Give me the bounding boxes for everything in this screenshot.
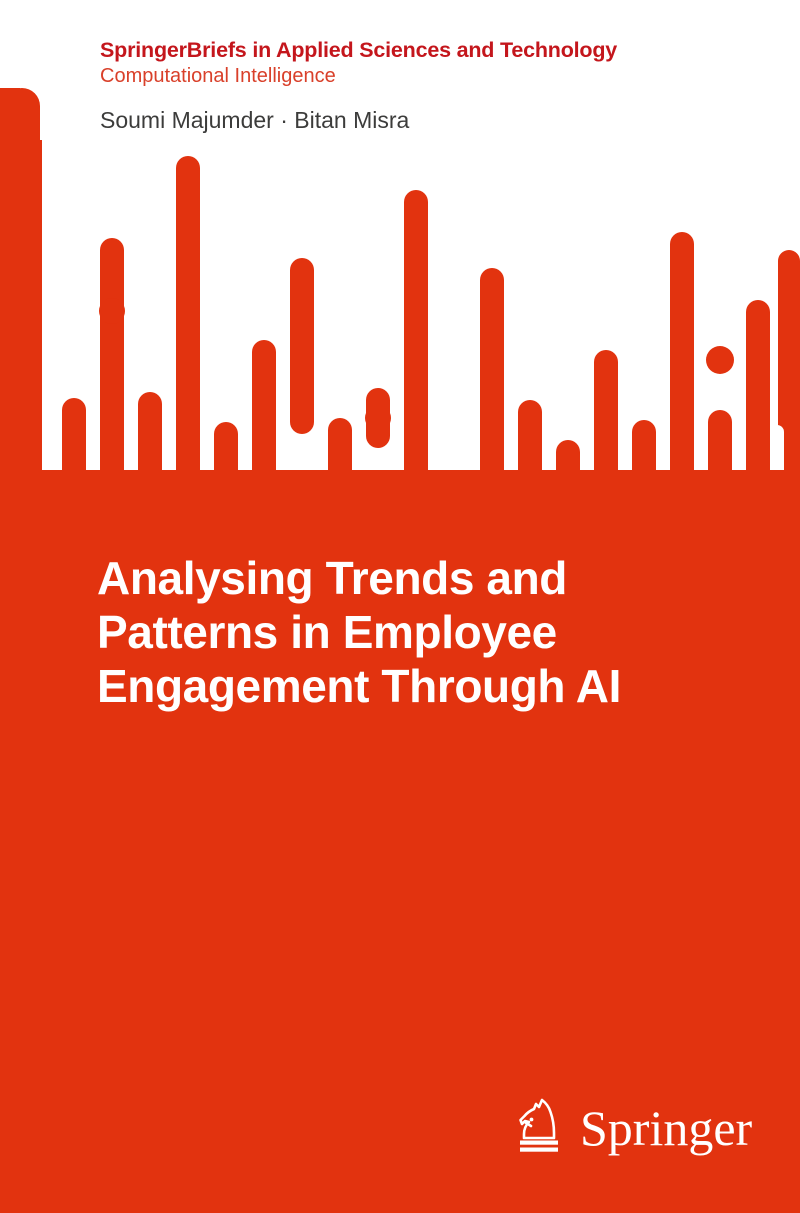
series-subtitle: Computational Intelligence [100, 64, 760, 89]
book-cover: SpringerBriefs in Applied Sciences and T… [0, 0, 800, 1213]
springer-knight-icon [512, 1097, 568, 1159]
author-names: Soumi Majumder · Bitan Misra [100, 107, 760, 134]
publisher-logo: Springer [512, 1092, 732, 1164]
publisher-name: Springer [580, 1103, 752, 1153]
cover-header: SpringerBriefs in Applied Sciences and T… [100, 38, 760, 134]
series-title: SpringerBriefs in Applied Sciences and T… [100, 38, 760, 62]
book-title: Analysing Trends and Patterns in Employe… [97, 552, 717, 713]
